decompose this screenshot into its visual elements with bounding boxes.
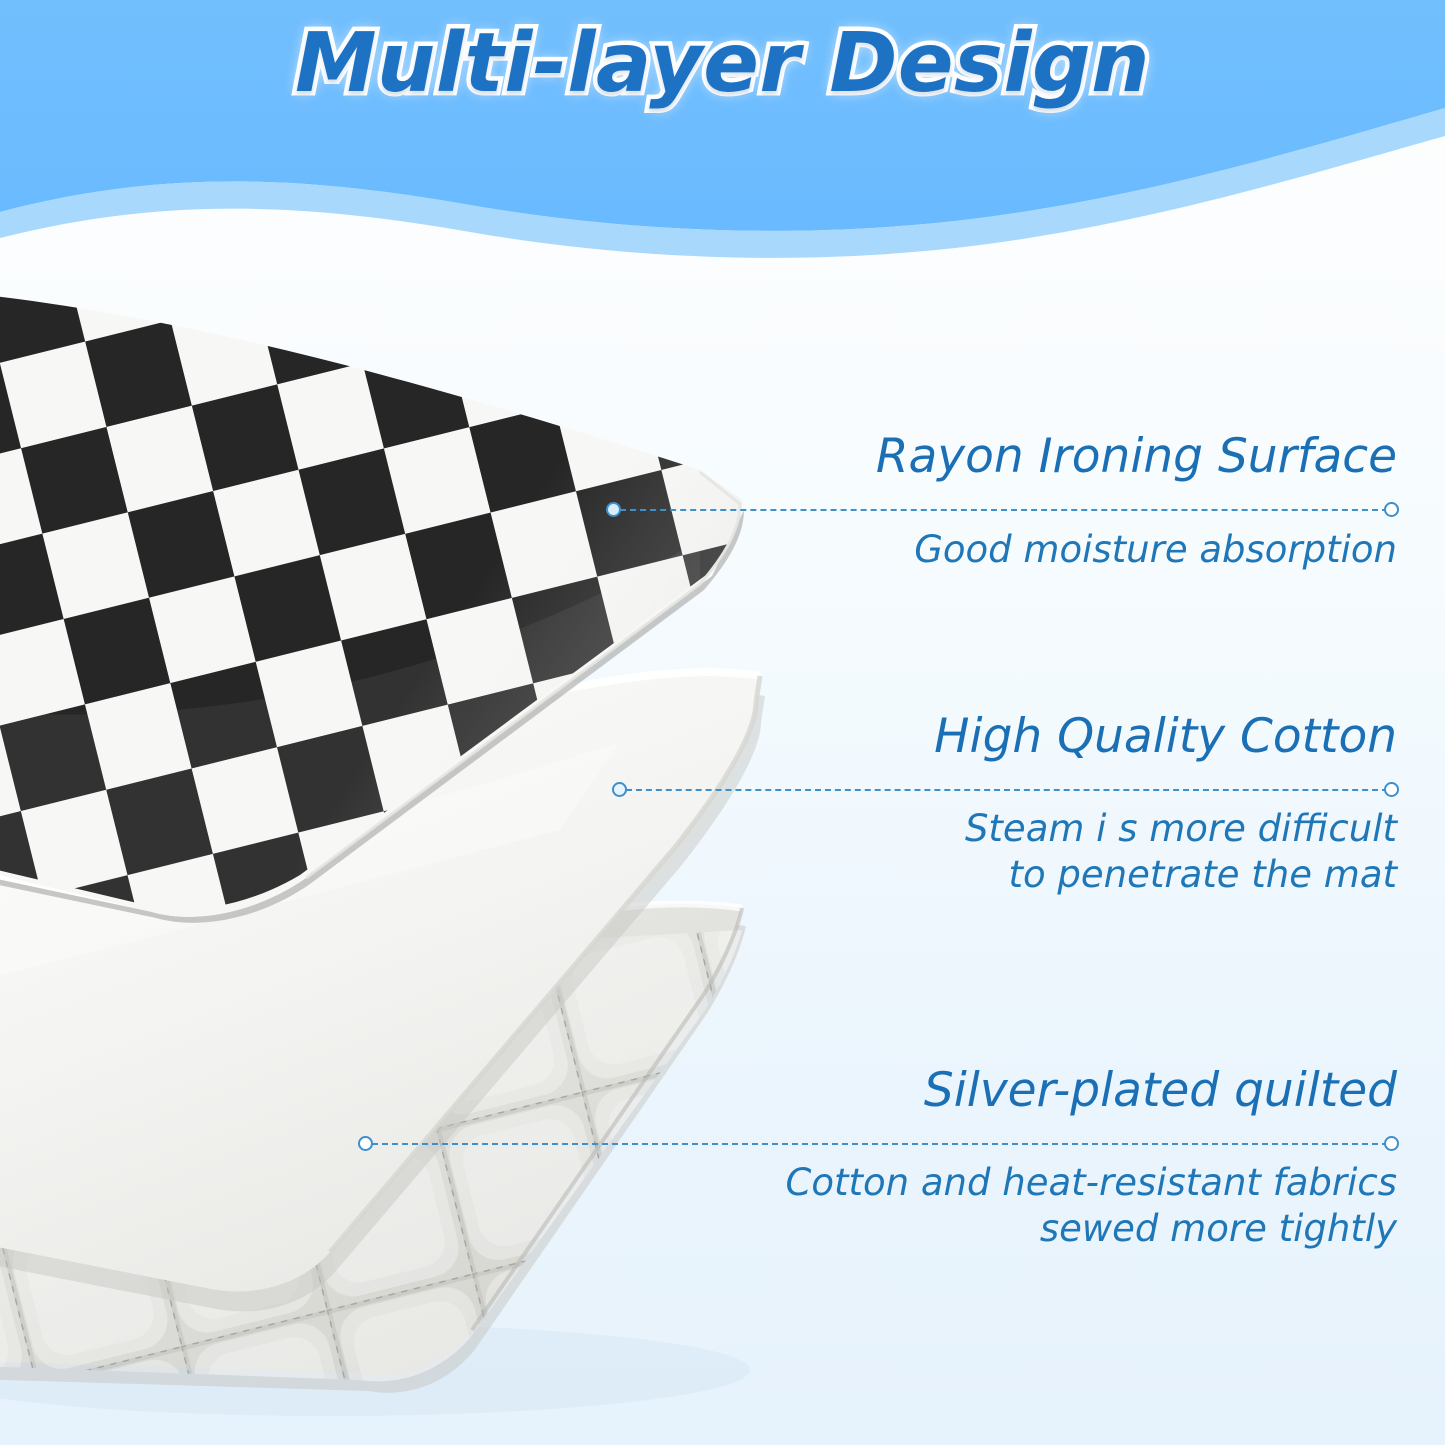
callout-title-2: High Quality Cotton bbox=[577, 712, 1397, 762]
infographic-root: Multi-layer Design bbox=[0, 0, 1445, 1445]
leader-dot-icon-left-2 bbox=[612, 782, 627, 797]
leader-dot-icon-left-3 bbox=[358, 1136, 373, 1151]
callout-subtitle-3-line-1: Cotton and heat-resistant fabrics bbox=[497, 1160, 1397, 1206]
leader-line-1 bbox=[620, 509, 1388, 511]
callout-subtitle-3: Cotton and heat-resistant fabrics sewed … bbox=[497, 1160, 1397, 1251]
callout-subtitle-1-line-1: Good moisture absorption bbox=[577, 527, 1397, 573]
callout-silver-plated-quilted-sub: Cotton and heat-resistant fabrics sewed … bbox=[497, 1160, 1397, 1251]
callout-title-1: Rayon Ironing Surface bbox=[577, 432, 1397, 482]
callout-subtitle-2-line-1: Steam i s more difficult bbox=[577, 806, 1397, 852]
leader-line-3 bbox=[372, 1143, 1388, 1145]
leader-dot-icon-right-1 bbox=[1384, 502, 1399, 517]
callout-rayon-ironing-surface: Rayon Ironing Surface bbox=[577, 432, 1397, 482]
callout-high-quality-cotton-sub: Steam i s more difficult to penetrate th… bbox=[577, 806, 1397, 897]
callout-subtitle-1: Good moisture absorption bbox=[577, 527, 1397, 573]
callout-rayon-ironing-surface-sub: Good moisture absorption bbox=[577, 527, 1397, 573]
leader-dot-icon-right-2 bbox=[1384, 782, 1399, 797]
callout-silver-plated-quilted: Silver-plated quilted bbox=[497, 1066, 1397, 1116]
callout-high-quality-cotton: High Quality Cotton bbox=[577, 712, 1397, 762]
callout-title-3: Silver-plated quilted bbox=[497, 1066, 1397, 1116]
callout-subtitle-2: Steam i s more difficult to penetrate th… bbox=[577, 806, 1397, 897]
callout-subtitle-2-line-2: to penetrate the mat bbox=[577, 852, 1397, 898]
leader-line-2 bbox=[626, 789, 1388, 791]
leader-dot-icon-right-3 bbox=[1384, 1136, 1399, 1151]
callout-subtitle-3-line-2: sewed more tightly bbox=[497, 1206, 1397, 1252]
leader-dot-icon-left-1 bbox=[606, 502, 621, 517]
